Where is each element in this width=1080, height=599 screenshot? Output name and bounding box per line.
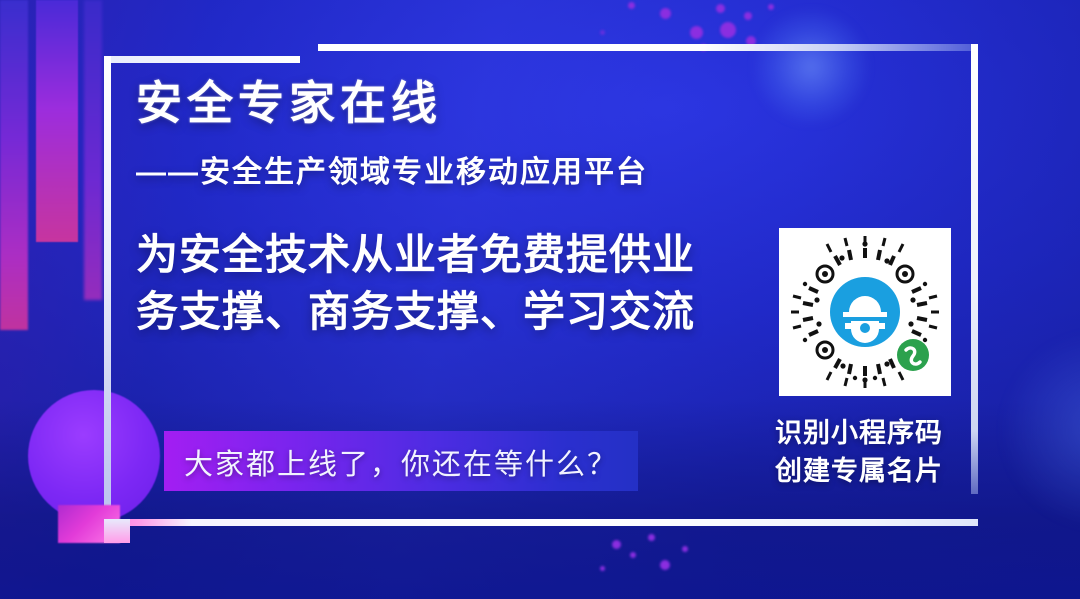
- decor-dot: [690, 26, 703, 39]
- decor-corner-pink-accent: [104, 519, 130, 543]
- decor-dot: [716, 4, 725, 13]
- frame-bottom-edge: [104, 519, 978, 526]
- body-line-2: 务支撑、商务支撑、学习交流: [136, 284, 756, 339]
- body-line-1: 为安全技术从业者免费提供业: [136, 227, 756, 282]
- decor-stripe-left-inner: [84, 0, 102, 300]
- decor-dot: [720, 22, 736, 38]
- qr-caption-line-1: 识别小程序码: [775, 414, 975, 452]
- promo-banner: 安全专家在线 ——安全生产领域专业移动应用平台 为安全技术从业者免费提供业 务支…: [0, 0, 1080, 599]
- cta-text: 大家都上线了，你还在等什么？: [184, 441, 654, 483]
- decor-dot: [630, 552, 636, 558]
- decor-dot: [600, 30, 605, 35]
- frame-top-left-segment: [104, 56, 300, 63]
- decor-circle-purple: [28, 390, 160, 522]
- frame-left-edge: [104, 56, 111, 526]
- decor-dot: [660, 8, 671, 19]
- text-content: 安全专家在线 ——安全生产领域专业移动应用平台 为安全技术从业者免费提供业 务支…: [136, 78, 756, 339]
- decor-stripe-left-magenta: [36, 0, 78, 242]
- frame-top-right-segment: [318, 44, 978, 51]
- decor-dot: [648, 534, 655, 541]
- qr-code-panel[interactable]: [779, 228, 951, 396]
- decor-glow-blue: [752, 8, 870, 126]
- decor-dot: [628, 2, 635, 9]
- qr-code-image: [779, 228, 951, 396]
- decor-dot: [600, 566, 605, 571]
- page-title: 安全专家在线: [136, 78, 756, 129]
- wechat-miniprogram-code-icon: [779, 228, 951, 396]
- qr-caption-line-2: 创建专属名片: [775, 452, 975, 490]
- page-subtitle: ——安全生产领域专业移动应用平台: [136, 147, 756, 191]
- decor-dot: [744, 12, 752, 20]
- decor-dot: [682, 546, 688, 552]
- decor-dot: [660, 560, 670, 570]
- qr-caption: 识别小程序码 创建专属名片: [775, 414, 975, 491]
- decor-dot: [768, 4, 774, 10]
- decor-dot: [612, 540, 621, 549]
- decor-stripe-left-outer: [0, 0, 28, 330]
